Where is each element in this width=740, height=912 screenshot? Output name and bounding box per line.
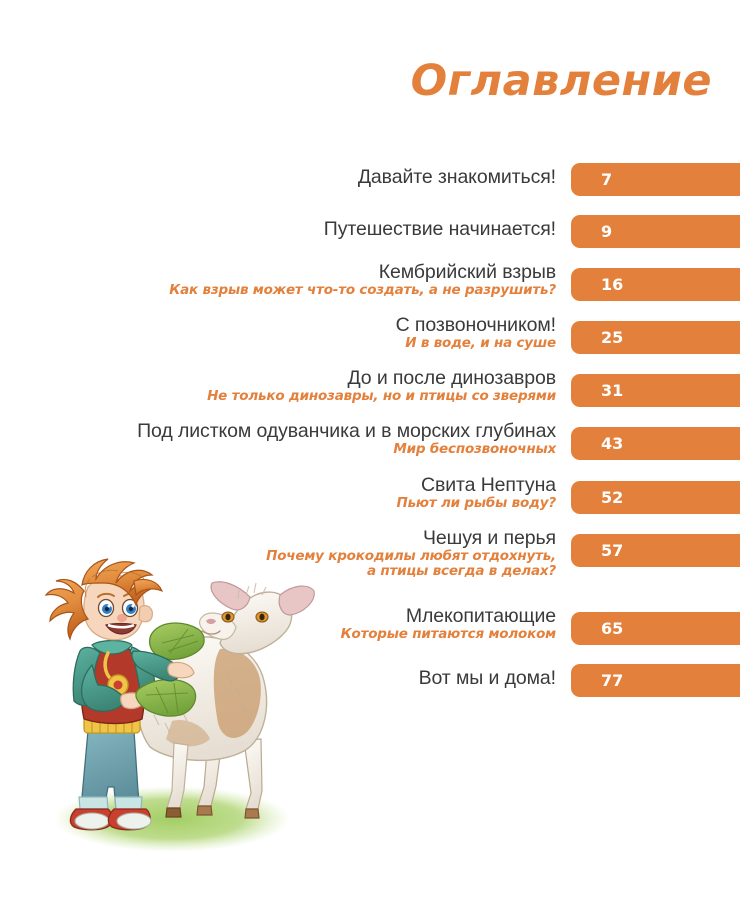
toc-entry-text: Давайте знакомиться! — [36, 167, 556, 187]
toc-page-number: 7 — [601, 163, 612, 196]
toc-entry-title: Кембрийский взрыв — [36, 262, 556, 282]
toc-entry-subtitle: Пьют ли рыбы воду? — [36, 496, 556, 511]
toc-page-bar[interactable]: 25 — [571, 321, 740, 354]
toc-page-bar[interactable]: 31 — [571, 374, 740, 407]
toc-page-number: 43 — [601, 427, 623, 460]
toc-page-number: 9 — [601, 215, 612, 248]
toc-entry-text: До и после динозавровНе только динозавры… — [36, 368, 556, 404]
toc-entry-title: С позвоночником! — [36, 315, 556, 335]
toc-entry-text: Кембрийский взрывКак взрыв может что-то … — [36, 262, 556, 298]
toc-page-bar[interactable]: 52 — [571, 481, 740, 514]
toc-page-bar[interactable]: 9 — [571, 215, 740, 248]
toc-page-bar[interactable]: 65 — [571, 612, 740, 645]
toc-entry-title: Путешествие начинается! — [36, 219, 556, 239]
toc-entry-subtitle: Мир беспозвоночных — [36, 442, 556, 457]
toc-page-bar[interactable]: 43 — [571, 427, 740, 460]
toc-page-number: 52 — [601, 481, 623, 514]
toc-page-number: 31 — [601, 374, 623, 407]
toc-entry-title: До и после динозавров — [36, 368, 556, 388]
toc-page-bar[interactable]: 7 — [571, 163, 740, 196]
toc-page-bar[interactable]: 77 — [571, 664, 740, 697]
toc-page-bar[interactable]: 57 — [571, 534, 740, 567]
toc-entry-text: Путешествие начинается! — [36, 219, 556, 239]
toc-entry-text: Под листком одуванчика и в морских глуби… — [36, 421, 556, 457]
toc-page-number: 16 — [601, 268, 623, 301]
toc-entry-subtitle: И в воде, и на суше — [36, 336, 556, 351]
toc-page-number: 77 — [601, 664, 623, 697]
toc-page-bar[interactable]: 16 — [571, 268, 740, 301]
boy-feeding-goat-illustration — [22, 525, 322, 860]
toc-page-number: 65 — [601, 612, 623, 645]
toc-entry-title: Давайте знакомиться! — [36, 167, 556, 187]
toc-page-number: 25 — [601, 321, 623, 354]
page-title: Оглавление — [0, 60, 712, 103]
toc-entry-text: С позвоночником!И в воде, и на суше — [36, 315, 556, 351]
table-of-contents-page: Оглавление Давайте знакомиться!7Путешест… — [0, 0, 740, 912]
toc-entry-subtitle: Не только динозавры, но и птицы со зверя… — [36, 389, 556, 404]
toc-page-number: 57 — [601, 534, 623, 567]
toc-entry-title: Под листком одуванчика и в морских глуби… — [36, 421, 556, 441]
toc-entry-title: Свита Нептуна — [36, 475, 556, 495]
toc-entry-subtitle: Как взрыв может что-то создать, а не раз… — [36, 283, 556, 298]
toc-entry-text: Свита НептунаПьют ли рыбы воду? — [36, 475, 556, 511]
